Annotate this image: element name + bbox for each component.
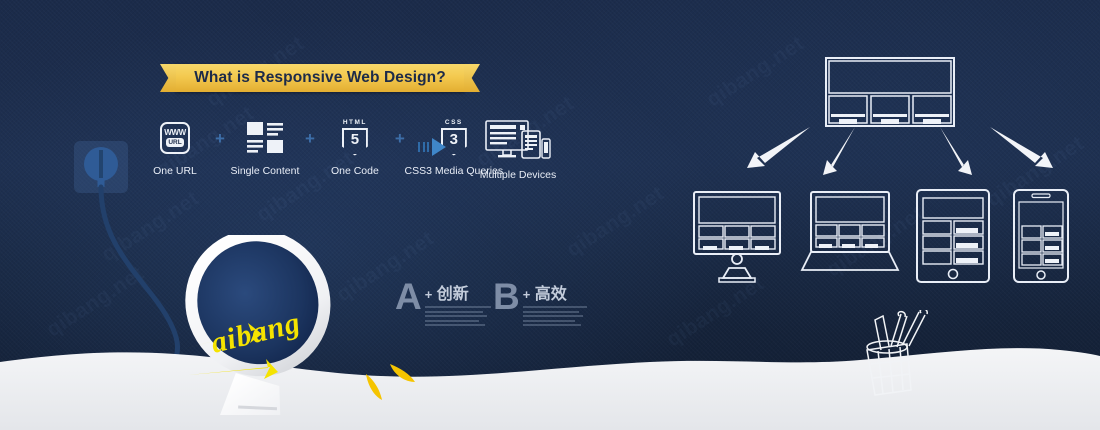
- ribbon-tail-left: [161, 22, 173, 38]
- plus-separator: +: [395, 129, 405, 149]
- banner-title: What is Responsive Web Design?: [194, 69, 446, 87]
- spark-icon: [360, 358, 420, 406]
- speed-lines: [418, 142, 429, 152]
- phone-icon: [1012, 188, 1072, 286]
- desktop-icon: [692, 190, 787, 285]
- css3-version: 3: [450, 132, 458, 147]
- css3-badge-label: CSS: [445, 120, 463, 127]
- laptop-icon: [800, 190, 900, 285]
- pen-holder-icon: [845, 310, 955, 400]
- responsive-layout-wireframe: [825, 57, 955, 127]
- highlight-plus: +: [523, 287, 531, 302]
- watermark-text: qibang.net: [702, 32, 808, 113]
- highlight-plus: +: [425, 287, 433, 302]
- motion-arrow-icon: [418, 138, 446, 156]
- highlight-title: 创新: [437, 286, 469, 303]
- white-arrow-icon: [823, 127, 855, 175]
- feature-multiple-devices: Multiple Devices: [468, 118, 568, 181]
- feature-label: Multiple Devices: [480, 169, 556, 181]
- tablet-icon: [915, 188, 993, 286]
- white-arrow-icon: [940, 127, 972, 175]
- hero-banner: qibang.net qibang.net qibang.net qibang.…: [0, 0, 1100, 430]
- html5-badge-label: HTML: [343, 120, 367, 127]
- highlight-title: 高效: [535, 286, 567, 303]
- banner-ribbon: What is Responsive Web Design?: [175, 64, 465, 92]
- arrow-head: [432, 138, 446, 156]
- arrow-group: [735, 125, 1065, 195]
- watermark-text: qibang.net: [562, 182, 668, 263]
- multiple-devices-icon: [485, 118, 551, 162]
- white-arrow-icon: [747, 127, 810, 168]
- white-arrow-icon: [990, 127, 1053, 168]
- ribbon-tail-right: [467, 22, 479, 38]
